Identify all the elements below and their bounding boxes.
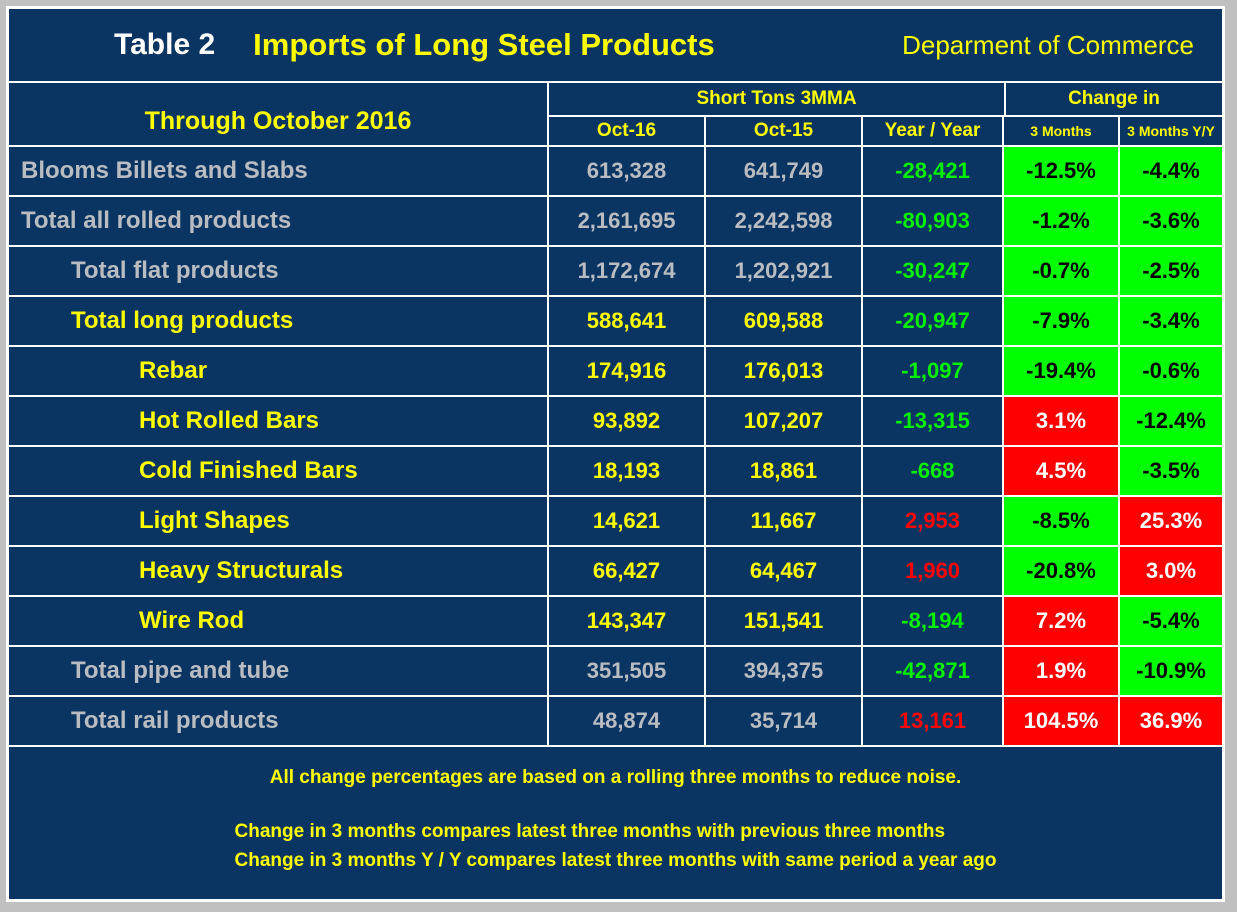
header-columns: Short Tons 3MMA Change in Oct-16 Oct-15 … — [549, 83, 1222, 145]
cell-change-3m: -1.2% — [1004, 197, 1120, 245]
cell-oct15: 107,207 — [706, 397, 863, 445]
cell-yoy: 1,960 — [863, 547, 1004, 595]
cell-oct15: 176,013 — [706, 347, 863, 395]
cell-yoy: -42,871 — [863, 647, 1004, 695]
cell-yoy: -668 — [863, 447, 1004, 495]
cell-change-3m: -8.5% — [1004, 497, 1120, 545]
cell-oct16: 2,161,695 — [549, 197, 706, 245]
cell-change-3m: -0.7% — [1004, 247, 1120, 295]
cell-change-3m-yy: -3.4% — [1120, 297, 1222, 345]
cell-oct16: 14,621 — [549, 497, 706, 545]
row-label: Total long products — [9, 297, 549, 345]
cell-change-3m: -20.8% — [1004, 547, 1120, 595]
header-col-3-months-yy: 3 Months Y/Y — [1120, 117, 1222, 145]
cell-oct16: 613,328 — [549, 147, 706, 195]
data-source-label: Deparment of Commerce — [902, 30, 1194, 61]
cell-change-3m: 1.9% — [1004, 647, 1120, 695]
cell-change-3m-yy: -5.4% — [1120, 597, 1222, 645]
title-bar: Table 2 Imports of Long Steel Products D… — [9, 9, 1222, 83]
cell-yoy: -80,903 — [863, 197, 1004, 245]
header-col-year-over-year: Year / Year — [863, 117, 1004, 145]
cell-yoy: -28,421 — [863, 147, 1004, 195]
table-row: Rebar 174,916 176,013 -1,097 -19.4% -0.6… — [9, 347, 1222, 397]
row-label: Blooms Billets and Slabs — [9, 147, 549, 195]
table-header: Through October 2016 Short Tons 3MMA Cha… — [9, 83, 1222, 147]
cell-change-3m-yy: 3.0% — [1120, 547, 1222, 595]
table-row: Cold Finished Bars 18,193 18,861 -668 4.… — [9, 447, 1222, 497]
cell-yoy: 13,161 — [863, 697, 1004, 745]
table-row: Total pipe and tube 351,505 394,375 -42,… — [9, 647, 1222, 697]
cell-change-3m: 7.2% — [1004, 597, 1120, 645]
row-label: Total flat products — [9, 247, 549, 295]
cell-yoy: -13,315 — [863, 397, 1004, 445]
table-row: Blooms Billets and Slabs 613,328 641,749… — [9, 147, 1222, 197]
cell-change-3m-yy: 36.9% — [1120, 697, 1222, 745]
footnote-definitions: Change in 3 months compares latest three… — [235, 817, 997, 876]
cell-yoy: -30,247 — [863, 247, 1004, 295]
footnote-line-1: Change in 3 months compares latest three… — [235, 817, 997, 846]
cell-oct15: 2,242,598 — [706, 197, 863, 245]
table-row: Total flat products 1,172,674 1,202,921 … — [9, 247, 1222, 297]
cell-oct16: 351,505 — [549, 647, 706, 695]
page-title: Imports of Long Steel Products — [253, 27, 715, 63]
period-label: Through October 2016 — [9, 83, 549, 145]
table-row: Heavy Structurals 66,427 64,467 1,960 -2… — [9, 547, 1222, 597]
cell-oct16: 174,916 — [549, 347, 706, 395]
cell-change-3m-yy: -3.6% — [1120, 197, 1222, 245]
cell-change-3m: 4.5% — [1004, 447, 1120, 495]
cell-oct16: 48,874 — [549, 697, 706, 745]
header-group-row: Short Tons 3MMA Change in — [549, 83, 1222, 115]
footnote-line-2: Change in 3 months Y / Y compares latest… — [235, 846, 997, 875]
row-label: Heavy Structurals — [9, 547, 549, 595]
cell-oct15: 609,588 — [706, 297, 863, 345]
header-col-oct16: Oct-16 — [549, 117, 706, 145]
cell-oct15: 11,667 — [706, 497, 863, 545]
table-body: Blooms Billets and Slabs 613,328 641,749… — [9, 147, 1222, 747]
cell-change-3m: -7.9% — [1004, 297, 1120, 345]
table-frame: Table 2 Imports of Long Steel Products D… — [6, 6, 1225, 902]
cell-change-3m-yy: -12.4% — [1120, 397, 1222, 445]
row-label: Total rail products — [9, 697, 549, 745]
cell-oct15: 394,375 — [706, 647, 863, 695]
cell-change-3m-yy: -3.5% — [1120, 447, 1222, 495]
row-label: Cold Finished Bars — [9, 447, 549, 495]
table-footnotes: All change percentages are based on a ro… — [9, 747, 1222, 899]
cell-yoy: -8,194 — [863, 597, 1004, 645]
header-col-3-months: 3 Months — [1004, 117, 1120, 145]
cell-change-3m-yy: -4.4% — [1120, 147, 1222, 195]
cell-change-3m-yy: 25.3% — [1120, 497, 1222, 545]
table-sheet: Table 2 Imports of Long Steel Products D… — [9, 9, 1222, 899]
cell-change-3m-yy: -0.6% — [1120, 347, 1222, 395]
header-group-short-tons: Short Tons 3MMA — [549, 83, 1006, 115]
cell-yoy: -20,947 — [863, 297, 1004, 345]
cell-oct16: 18,193 — [549, 447, 706, 495]
cell-oct15: 35,714 — [706, 697, 863, 745]
row-label: Wire Rod — [9, 597, 549, 645]
header-col-oct15: Oct-15 — [706, 117, 863, 145]
cell-oct16: 143,347 — [549, 597, 706, 645]
footnote-main: All change percentages are based on a ro… — [270, 767, 962, 789]
header-subcolumn-row: Oct-16 Oct-15 Year / Year 3 Months 3 Mon… — [549, 115, 1222, 145]
cell-change-3m: 104.5% — [1004, 697, 1120, 745]
cell-oct16: 66,427 — [549, 547, 706, 595]
table-row: Hot Rolled Bars 93,892 107,207 -13,315 3… — [9, 397, 1222, 447]
cell-change-3m-yy: -10.9% — [1120, 647, 1222, 695]
table-row: Wire Rod 143,347 151,541 -8,194 7.2% -5.… — [9, 597, 1222, 647]
cell-oct15: 1,202,921 — [706, 247, 863, 295]
table-number-label: Table 2 — [114, 28, 215, 62]
cell-oct16: 1,172,674 — [549, 247, 706, 295]
header-group-change: Change in — [1006, 83, 1222, 115]
row-label: Light Shapes — [9, 497, 549, 545]
table-row: Light Shapes 14,621 11,667 2,953 -8.5% 2… — [9, 497, 1222, 547]
row-label: Hot Rolled Bars — [9, 397, 549, 445]
table-row: Total all rolled products 2,161,695 2,24… — [9, 197, 1222, 247]
cell-change-3m: -19.4% — [1004, 347, 1120, 395]
cell-change-3m-yy: -2.5% — [1120, 247, 1222, 295]
cell-oct16: 93,892 — [549, 397, 706, 445]
row-label: Total all rolled products — [9, 197, 549, 245]
table-row: Total long products 588,641 609,588 -20,… — [9, 297, 1222, 347]
table-row: Total rail products 48,874 35,714 13,161… — [9, 697, 1222, 747]
cell-oct15: 151,541 — [706, 597, 863, 645]
cell-change-3m: -12.5% — [1004, 147, 1120, 195]
row-label: Rebar — [9, 347, 549, 395]
cell-oct15: 641,749 — [706, 147, 863, 195]
cell-oct15: 64,467 — [706, 547, 863, 595]
cell-oct16: 588,641 — [549, 297, 706, 345]
cell-yoy: -1,097 — [863, 347, 1004, 395]
row-label: Total pipe and tube — [9, 647, 549, 695]
cell-change-3m: 3.1% — [1004, 397, 1120, 445]
cell-oct15: 18,861 — [706, 447, 863, 495]
cell-yoy: 2,953 — [863, 497, 1004, 545]
